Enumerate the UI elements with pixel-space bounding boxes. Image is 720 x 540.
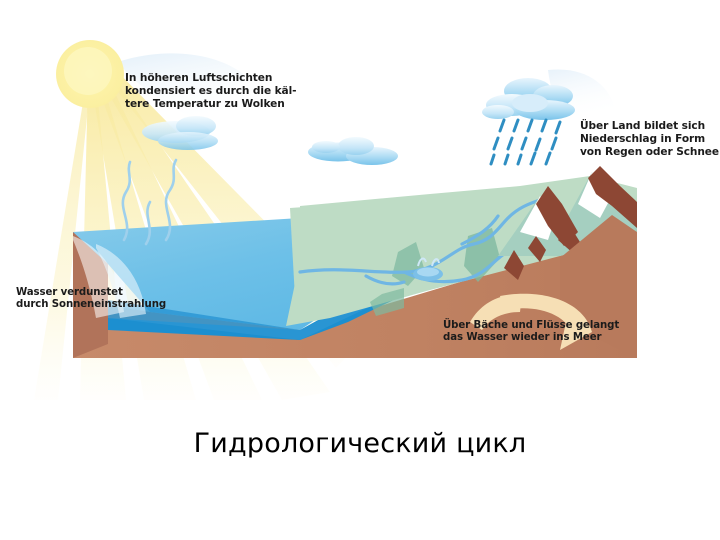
cloud-small-middle	[158, 132, 218, 150]
label-evaporation: Wasser verdunstet durch Sonneneinstrahlu…	[16, 287, 166, 312]
slide-canvas: In höheren Luftschichten kondensiert es …	[0, 0, 720, 540]
page-title: Гидрологический цикл	[0, 428, 720, 459]
rain-drops	[491, 120, 560, 164]
label-precipitation: Über Land bildet sich Niederschlag in Fo…	[580, 120, 719, 159]
label-runoff: Über Bäche und Flüsse gelangt das Wasser…	[443, 320, 619, 345]
sun-icon	[56, 40, 124, 108]
label-condensation: In höheren Luftschichten kondensiert es …	[125, 72, 296, 111]
cloud-small-right	[308, 137, 398, 165]
